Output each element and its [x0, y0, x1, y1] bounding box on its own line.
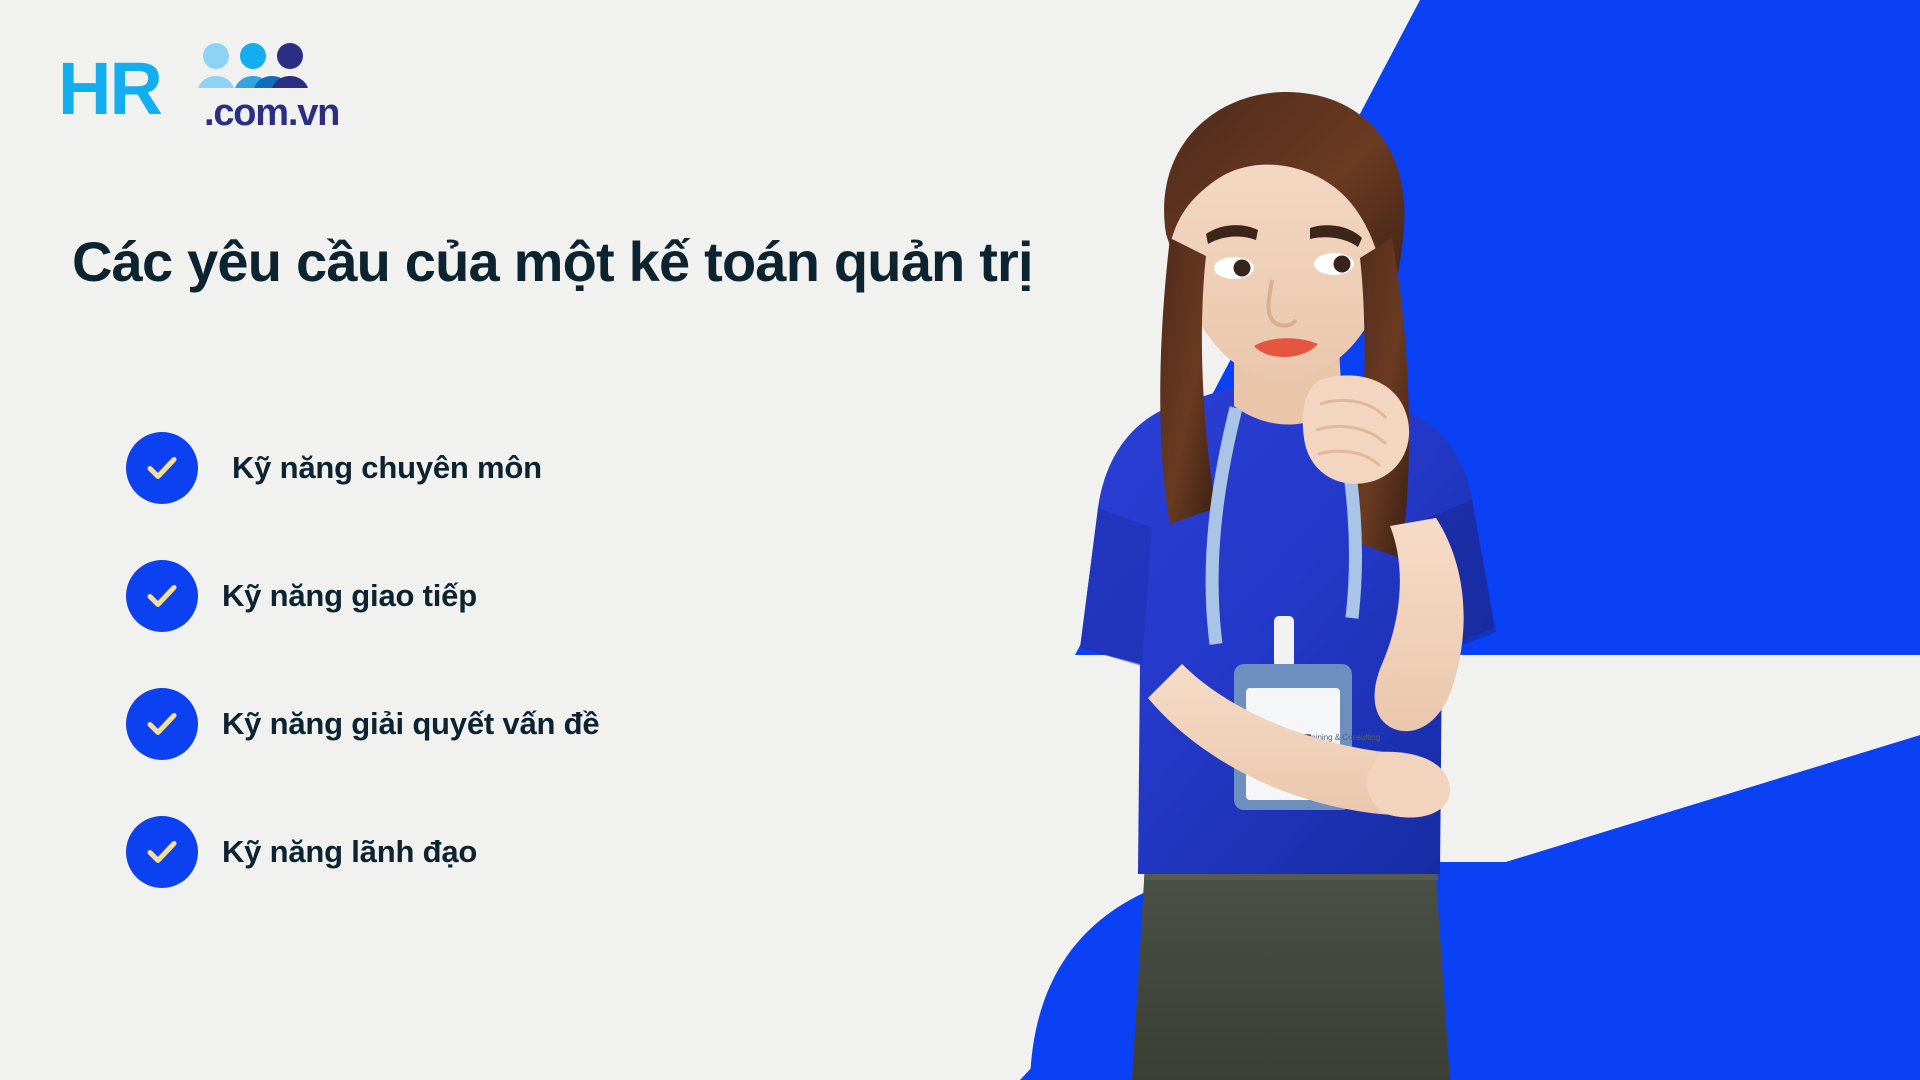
- id-badge-text: OGM: [1260, 730, 1313, 755]
- lanyard-right: [1338, 406, 1356, 618]
- hand-chin: [1303, 375, 1409, 483]
- eye-right: [1314, 253, 1354, 275]
- neck: [1234, 328, 1342, 425]
- hand-lower: [1367, 752, 1450, 818]
- id-badge-window: [1246, 688, 1340, 800]
- skirt: [1132, 848, 1450, 1080]
- blue-diagonal-band: [1075, 0, 1920, 655]
- forearm-lower: [1148, 664, 1438, 815]
- check-circle-icon: [126, 688, 198, 760]
- lanyard-clip: [1274, 616, 1294, 668]
- list-item: Kỹ năng giao tiếp: [126, 532, 1026, 660]
- id-badge-subtext: Training & Consulting: [1304, 733, 1380, 742]
- hair-strand-right: [1350, 238, 1409, 558]
- blue-bottom-blob: [1030, 862, 1845, 1080]
- tshirt: [1080, 388, 1494, 874]
- finger-1: [1320, 400, 1386, 418]
- page-title: Các yêu cầu của một kế toán quản trị: [72, 230, 1232, 294]
- cream-diagonal-stripe: [1165, 655, 1920, 925]
- logo-suffix: .com.vn: [204, 94, 339, 132]
- list-item: Kỹ năng giải quyết vấn đề: [126, 660, 1026, 788]
- requirements-checklist: Kỹ năng chuyên môn Kỹ năng giao tiếp Kỹ …: [126, 404, 1026, 916]
- skirt-waistband: [1144, 848, 1438, 880]
- sleeve-left: [1080, 508, 1152, 666]
- sleeve-right: [1428, 500, 1496, 654]
- three-people-wave-icon: [198, 42, 308, 94]
- lanyard-left: [1212, 408, 1236, 644]
- pupil-right: [1334, 256, 1351, 273]
- eyebrow-right: [1310, 225, 1362, 247]
- finger-2: [1316, 426, 1386, 444]
- lips: [1254, 338, 1318, 357]
- blue-lower-wedge: [1020, 735, 1920, 1080]
- list-item: Kỹ năng lãnh đạo: [126, 788, 1026, 916]
- list-item-label: Kỹ năng lãnh đạo: [222, 834, 477, 870]
- check-circle-icon: [126, 816, 198, 888]
- nose: [1269, 280, 1297, 326]
- logo-wordmark: HR: [58, 56, 161, 123]
- check-circle-icon: [126, 560, 198, 632]
- list-item: Kỹ năng chuyên môn: [126, 404, 1026, 532]
- id-badge: [1234, 664, 1352, 810]
- pupil-left: [1234, 260, 1251, 277]
- list-item-label: Kỹ năng chuyên môn: [232, 450, 542, 486]
- check-circle-icon: [126, 432, 198, 504]
- finger-3: [1318, 451, 1380, 466]
- list-item-label: Kỹ năng giải quyết vấn đề: [222, 706, 599, 742]
- site-logo[interactable]: HR .com.vn: [58, 30, 328, 130]
- upper-arm-right: [1375, 518, 1464, 731]
- list-item-label: Kỹ năng giao tiếp: [222, 578, 477, 614]
